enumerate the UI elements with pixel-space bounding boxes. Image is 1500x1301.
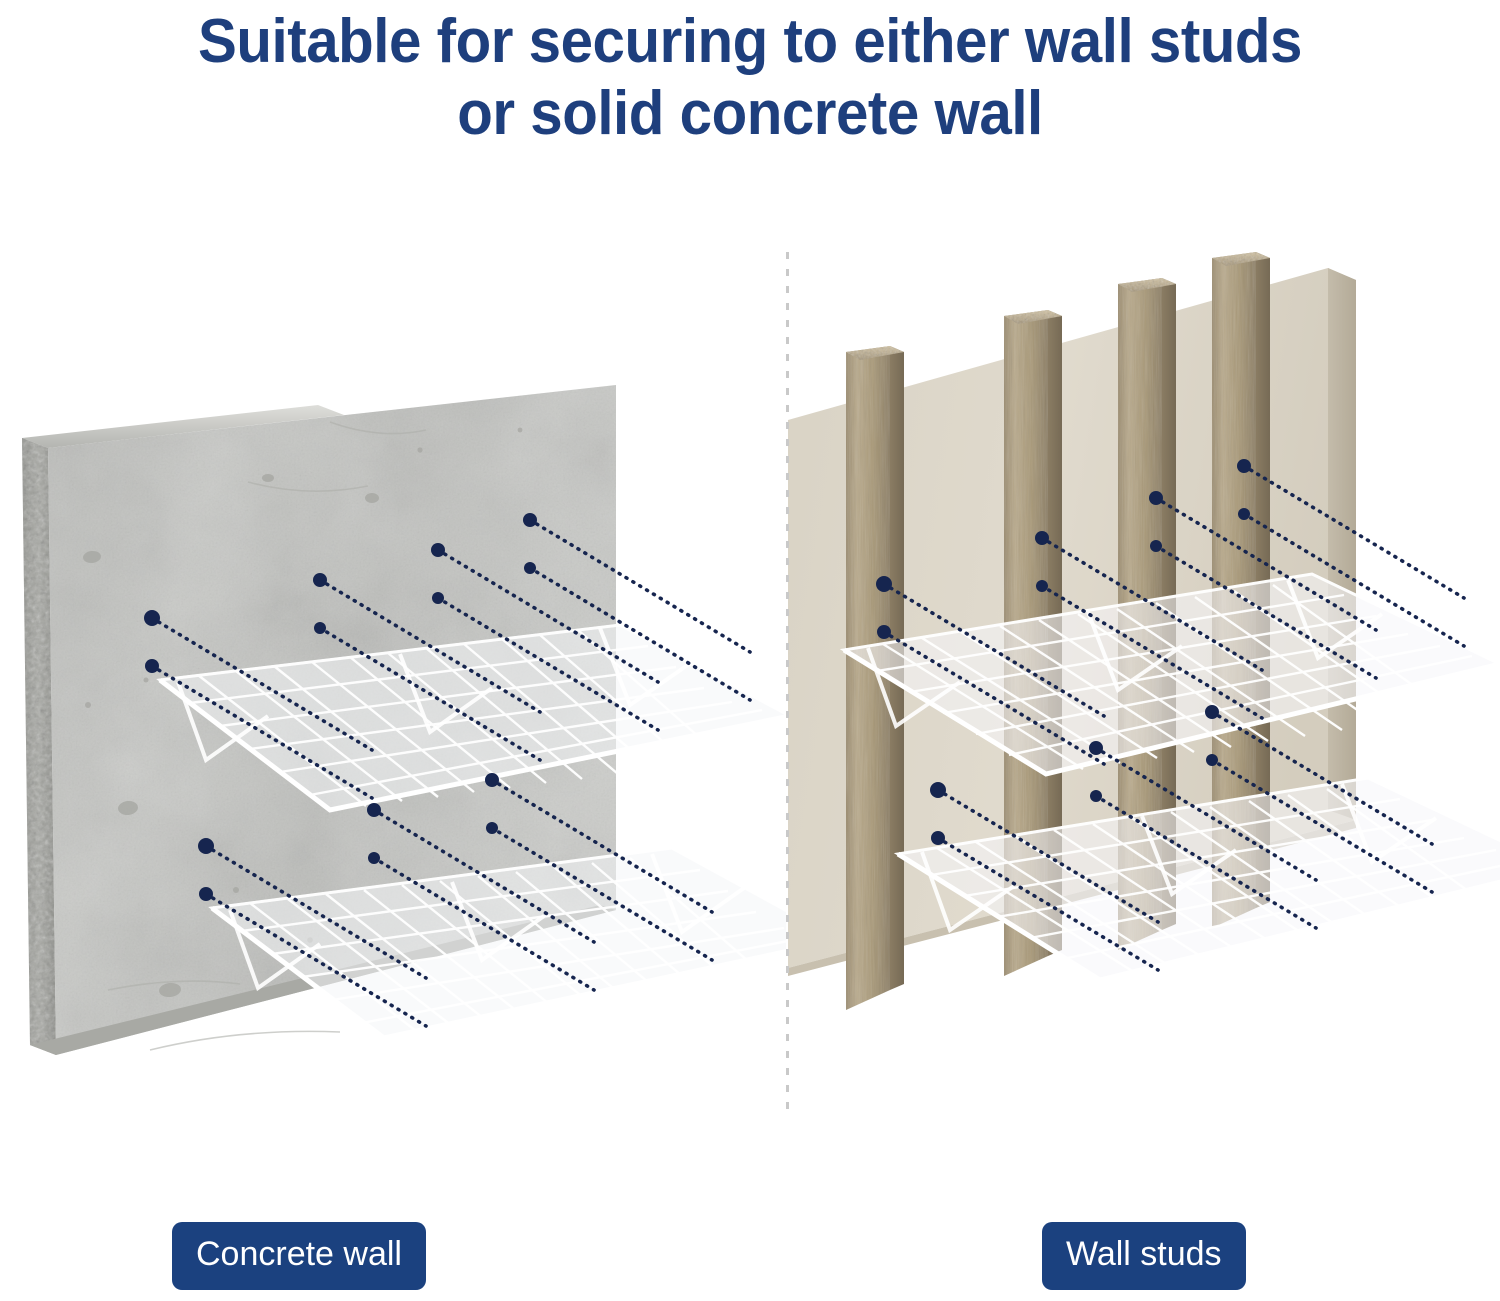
vertical-dashed-divider (786, 252, 789, 1112)
badge-wall-studs: Wall studs (1042, 1222, 1246, 1290)
page-title-line-2: or solid concrete wall (45, 78, 1455, 150)
drywall-right-edge (1328, 268, 1356, 820)
concrete-wall-illustration (0, 250, 786, 1120)
wall-studs-illustration (788, 250, 1500, 1120)
concrete-scene-svg (0, 250, 786, 1120)
page-title-line-1: Suitable for securing to either wall stu… (45, 6, 1455, 78)
studs-scene-svg (788, 250, 1500, 1120)
page-title: Suitable for securing to either wall stu… (45, 0, 1455, 150)
badge-concrete-wall: Concrete wall (172, 1222, 426, 1290)
